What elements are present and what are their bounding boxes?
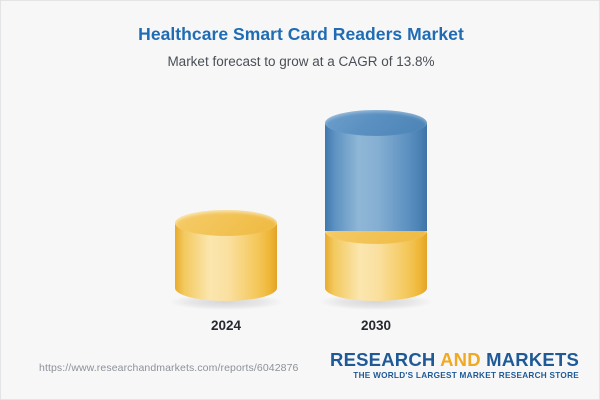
bar-segment-base-2024 xyxy=(175,223,277,301)
bar-segment-base-2030 xyxy=(325,231,427,301)
research-and-markets-logo[interactable]: RESEARCH AND MARKETS THE WORLD'S LARGEST… xyxy=(330,350,579,380)
cylinder-side-growth-2030 xyxy=(325,123,427,231)
source-url-link[interactable]: https://www.researchandmarkets.com/repor… xyxy=(39,362,298,374)
logo-word-research: RESEARCH xyxy=(330,349,435,370)
footer: https://www.researchandmarkets.com/repor… xyxy=(1,344,600,399)
cylinder-top-disc-2030 xyxy=(325,110,427,136)
chart-plot-area: USD 1 Billion 2024 USD 2.3 Billion xyxy=(1,1,600,346)
bar-cylinder-2030[interactable] xyxy=(325,123,427,301)
bar-segment-growth-2030 xyxy=(325,123,427,231)
cylinder-top-disc-2024 xyxy=(175,210,277,236)
logo-wordmark: RESEARCH AND MARKETS xyxy=(330,350,579,369)
bar-category-label-2030: 2030 xyxy=(296,318,456,333)
logo-tagline: THE WORLD'S LARGEST MARKET RESEARCH STOR… xyxy=(330,371,579,380)
logo-word-markets: MARKETS xyxy=(486,349,579,370)
bar-cylinder-2024[interactable] xyxy=(175,223,277,301)
infographic-canvas: Healthcare Smart Card Readers Market Mar… xyxy=(0,0,600,400)
logo-word-and: AND xyxy=(440,349,481,370)
bar-category-label-2024: 2024 xyxy=(146,318,306,333)
